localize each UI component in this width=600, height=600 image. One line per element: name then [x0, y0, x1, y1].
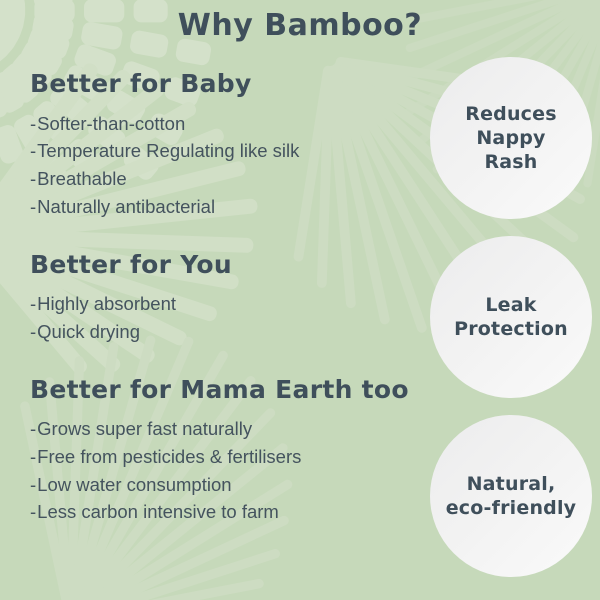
list-item-label: Breathable	[37, 165, 126, 193]
bullet-marker: -	[30, 110, 36, 138]
benefits-column: Better for Baby - Softer-than-cotton - T…	[30, 70, 422, 532]
section-heading: Better for Baby	[30, 70, 422, 98]
bullet-marker: -	[30, 193, 36, 221]
list-item: - Less carbon intensive to farm	[30, 498, 422, 526]
badge-line-2: eco-friendly	[446, 497, 577, 519]
list-item: - Naturally antibacterial	[30, 193, 422, 221]
page-title: Why Bamboo?	[0, 8, 600, 43]
section-heading: Better for Mama Earth too	[30, 376, 422, 404]
badge-label: Reduces Nappy Rash	[457, 102, 565, 175]
list-item-label: Grows super fast naturally	[37, 415, 252, 443]
list-item: - Grows super fast naturally	[30, 415, 422, 443]
list-item-label: Less carbon intensive to farm	[37, 498, 279, 526]
badge-circle-reduces-nappy-rash: Reduces Nappy Rash	[430, 57, 592, 219]
badge-line-1: Natural,	[467, 473, 556, 495]
bullet-list: - Softer-than-cotton - Temperature Regul…	[30, 110, 422, 221]
badge-line-2: Nappy	[476, 127, 545, 149]
list-item: - Highly absorbent	[30, 290, 422, 318]
badge-circle-leak-protection: Leak Protection	[430, 236, 592, 398]
bullet-list: - Highly absorbent - Quick drying	[30, 290, 422, 346]
list-item: - Quick drying	[30, 318, 422, 346]
list-item: - Free from pesticides & fertilisers	[30, 443, 422, 471]
bullet-marker: -	[30, 165, 36, 193]
badge-line-3: Rash	[484, 151, 537, 173]
bullet-marker: -	[30, 290, 36, 318]
list-item-label: Naturally antibacterial	[37, 193, 215, 221]
badge-label: Leak Protection	[446, 293, 576, 342]
list-item: - Low water consumption	[30, 471, 422, 499]
badge-line-1: Leak	[485, 294, 536, 316]
bullet-marker: -	[30, 415, 36, 443]
badge-line-2: Protection	[454, 318, 568, 340]
list-item-label: Highly absorbent	[37, 290, 176, 318]
section-better-for-baby: Better for Baby - Softer-than-cotton - T…	[30, 70, 422, 221]
bullet-marker: -	[30, 498, 36, 526]
section-better-for-mama-earth: Better for Mama Earth too - Grows super …	[30, 376, 422, 527]
list-item-label: Quick drying	[37, 318, 140, 346]
badge-circle-natural-eco-friendly: Natural, eco-friendly	[430, 415, 592, 577]
list-item-label: Temperature Regulating like silk	[37, 137, 299, 165]
infographic-canvas: Why Bamboo? Better for Baby - Softer-tha…	[0, 0, 600, 600]
list-item-label: Free from pesticides & fertilisers	[37, 443, 301, 471]
list-item: - Breathable	[30, 165, 422, 193]
list-item: - Softer-than-cotton	[30, 110, 422, 138]
badge-label: Natural, eco-friendly	[438, 472, 585, 521]
bullet-marker: -	[30, 443, 36, 471]
list-item: - Temperature Regulating like silk	[30, 137, 422, 165]
badge-line-1: Reduces	[465, 103, 557, 125]
bullet-list: - Grows super fast naturally - Free from…	[30, 415, 422, 526]
list-item-label: Softer-than-cotton	[37, 110, 185, 138]
list-item-label: Low water consumption	[37, 471, 231, 499]
bullet-marker: -	[30, 471, 36, 499]
bullet-marker: -	[30, 137, 36, 165]
section-heading: Better for You	[30, 251, 422, 279]
bullet-marker: -	[30, 318, 36, 346]
section-better-for-you: Better for You - Highly absorbent - Quic…	[30, 251, 422, 346]
